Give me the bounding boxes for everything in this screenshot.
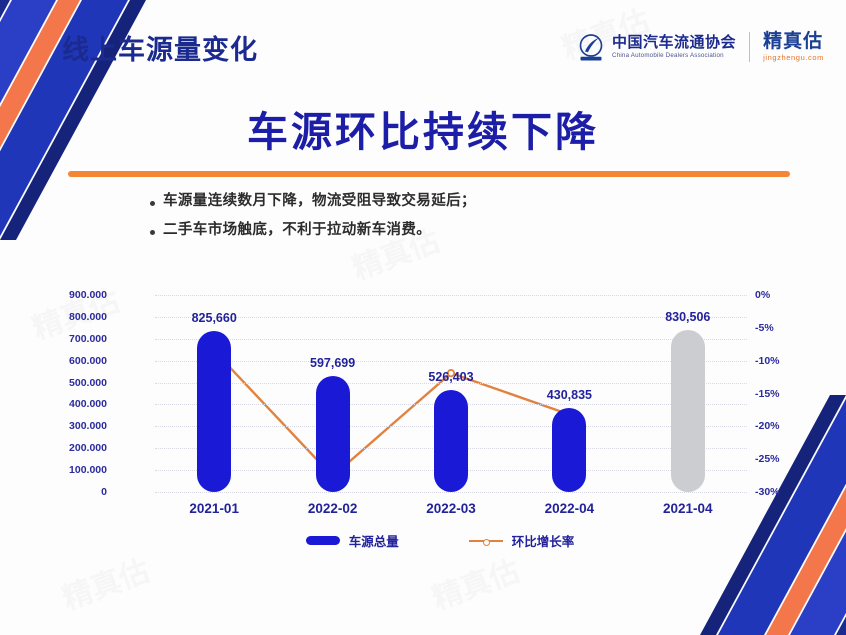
bar-value-label: 430,835 xyxy=(514,388,624,402)
y-axis-right-tick: -10% xyxy=(755,355,803,367)
chart-bar[interactable] xyxy=(434,390,468,492)
y-axis-right-tick: -25% xyxy=(755,453,803,465)
y-axis-left-tick: 500.000 xyxy=(41,377,107,389)
bar-value-label: 825,660 xyxy=(159,311,269,325)
brand-bar: 中国汽车流通协会 China Automobile Dealers Associ… xyxy=(576,26,824,68)
bullet-text: 二手车市场触底，不利于拉动新车消费。 xyxy=(163,221,431,241)
chart-gridline xyxy=(155,492,747,493)
bullet-dot-icon xyxy=(150,230,155,235)
y-axis-left-tick: 400.000 xyxy=(41,398,107,410)
slide-canvas: 精真估 精真估 精真估 精真估 精真估 线上车源量变化 中国汽车流通协会 Chi… xyxy=(0,0,846,635)
legend-swatch-bar-icon xyxy=(306,536,340,545)
cada-emblem-icon xyxy=(576,32,606,62)
list-item: 二手车市场触底，不利于拉动新车消费。 xyxy=(150,221,790,241)
brand-divider xyxy=(749,32,750,62)
bar-value-label: 830,506 xyxy=(633,310,743,324)
legend-item-bars[interactable]: 车源总量 xyxy=(306,531,399,550)
page-title: 线上车源量变化 xyxy=(62,28,258,67)
y-axis-left-tick: 800.000 xyxy=(41,311,107,323)
chart-bar[interactable] xyxy=(671,330,705,492)
x-axis-tick: 2022-04 xyxy=(514,501,624,516)
x-axis-tick: 2022-03 xyxy=(396,501,506,516)
bar-value-label: 526,403 xyxy=(396,370,506,384)
chart-plot-area: 900.000800.000700.000600.000500.000400.0… xyxy=(155,295,747,492)
x-axis-tick: 2022-02 xyxy=(278,501,388,516)
y-axis-left-tick: 700.000 xyxy=(41,333,107,345)
x-axis-tick: 2021-04 xyxy=(633,501,743,516)
chart-bar[interactable] xyxy=(316,376,350,492)
y-axis-left-tick: 200.000 xyxy=(41,442,107,454)
slide-header: 线上车源量变化 中国汽车流通协会 China Automobile Dealer… xyxy=(0,0,846,86)
title-underline-rule xyxy=(68,171,790,177)
y-axis-left-tick: 600.000 xyxy=(41,355,107,367)
bullet-dot-icon xyxy=(150,201,155,206)
y-axis-right-tick: -5% xyxy=(755,322,803,334)
legend-label: 环比增长率 xyxy=(512,531,575,550)
chart-bar[interactable] xyxy=(552,408,586,492)
list-item: 车源量连续数月下降，物流受阻导致交易延后； xyxy=(150,192,790,212)
chart-legend: 车源总量 环比增长率 xyxy=(95,531,785,550)
y-axis-left-tick: 300.000 xyxy=(41,420,107,432)
line-path xyxy=(214,351,569,476)
cada-name-en: China Automobile Dealers Association xyxy=(612,53,736,60)
y-axis-right-tick: -15% xyxy=(755,388,803,400)
chart-gridline xyxy=(155,339,747,340)
y-axis-right-tick: -20% xyxy=(755,420,803,432)
legend-item-line[interactable]: 环比增长率 xyxy=(469,531,575,550)
x-axis-tick: 2021-01 xyxy=(159,501,269,516)
jingzhengu-logo: 精真估 jingzhengu.com xyxy=(763,32,824,62)
chart-gridline xyxy=(155,295,747,296)
y-axis-left-tick: 0 xyxy=(41,486,107,498)
legend-swatch-line-icon xyxy=(469,536,503,545)
cada-name-cn: 中国汽车流通协会 xyxy=(612,35,736,51)
bar-value-label: 597,699 xyxy=(278,356,388,370)
y-axis-right-tick: 0% xyxy=(755,289,803,301)
jingzhengu-url: jingzhengu.com xyxy=(763,54,824,62)
y-axis-right-tick: -30% xyxy=(755,486,803,498)
y-axis-left-tick: 900.000 xyxy=(41,289,107,301)
bullet-list: 车源量连续数月下降，物流受阻导致交易延后； 二手车市场触底，不利于拉动新车消费。 xyxy=(150,192,790,249)
legend-label: 车源总量 xyxy=(349,531,399,550)
chart-bar[interactable] xyxy=(197,331,231,492)
chart: 900.000800.000700.000600.000500.000400.0… xyxy=(95,285,785,560)
bullet-text: 车源量连续数月下降，物流受阻导致交易延后； xyxy=(163,192,476,212)
main-title: 车源环比持续下降 xyxy=(0,98,846,158)
y-axis-left-tick: 100.000 xyxy=(41,464,107,476)
chart-gridline xyxy=(155,361,747,362)
jingzhengu-name-cn: 精真估 xyxy=(763,32,824,52)
cada-logo: 中国汽车流通协会 China Automobile Dealers Associ… xyxy=(576,32,736,62)
